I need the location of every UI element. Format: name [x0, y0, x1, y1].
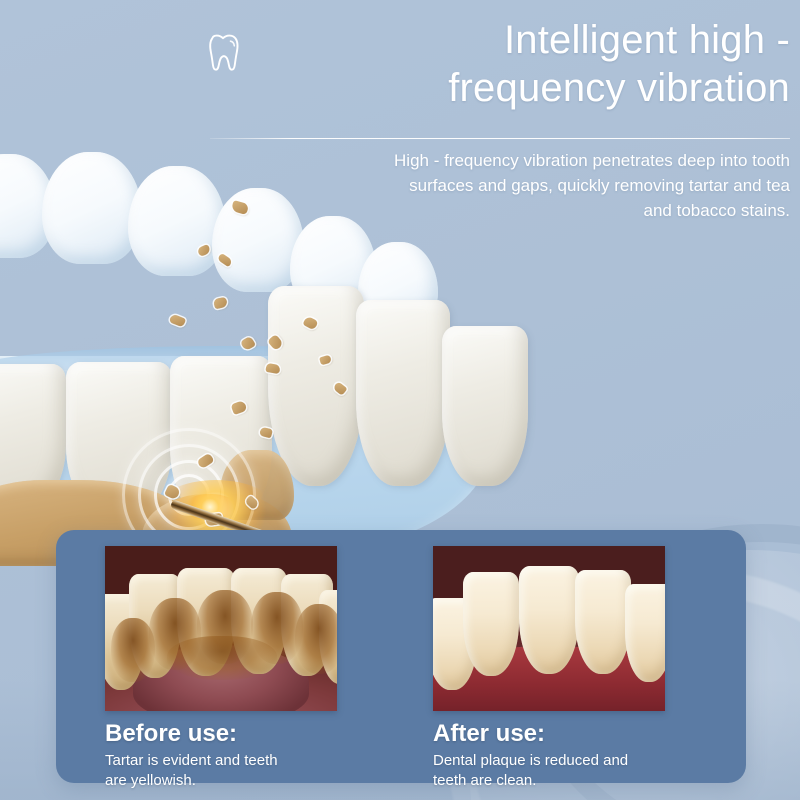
- after-use-body-line-1: Dental plaque is reduced and: [433, 752, 628, 769]
- after-tooth: [463, 572, 519, 676]
- lower-tooth: [442, 326, 528, 486]
- before-use-body-line-1: Tartar is evident and teeth: [105, 752, 278, 769]
- upper-molar: [42, 152, 142, 264]
- page-title-line-1: Intelligent high -: [504, 18, 790, 62]
- tartar-chip: [213, 297, 228, 309]
- header-divider: [210, 138, 790, 139]
- tartar-stain: [295, 604, 337, 674]
- before-use-body-line-2: are yellowish.: [105, 772, 196, 789]
- lower-tooth: [356, 300, 450, 486]
- page-subtitle-line-3: and tobacco stains.: [644, 201, 790, 220]
- before-use-photo: [105, 546, 337, 711]
- after-tooth: [625, 584, 665, 682]
- before-use-caption: Before use: Tartar is evident and teeth …: [105, 720, 278, 791]
- after-tooth: [519, 566, 579, 674]
- upper-molar-arch: [0, 150, 420, 290]
- tartar-stain: [167, 636, 277, 680]
- before-after-card: Before use: Tartar is evident and teeth …: [56, 530, 746, 783]
- lower-tooth: [268, 286, 364, 486]
- after-use-title: After use:: [433, 720, 628, 748]
- product-infographic: Intelligent high - frequency vibration H…: [0, 0, 800, 800]
- dental-scaler-illustration: [0, 150, 530, 550]
- page-title: Intelligent high - frequency vibration: [330, 16, 790, 112]
- tooth-icon: [205, 33, 241, 73]
- tartar-chip: [169, 314, 186, 328]
- after-use-body-line-2: teeth are clean.: [433, 772, 536, 789]
- before-use-title: Before use:: [105, 720, 278, 748]
- after-use-body: Dental plaque is reduced and teeth are c…: [433, 751, 628, 791]
- upper-molar: [128, 166, 226, 276]
- after-tooth: [575, 570, 631, 674]
- after-use-caption: After use: Dental plaque is reduced and …: [433, 720, 628, 791]
- before-use-body: Tartar is evident and teeth are yellowis…: [105, 751, 278, 791]
- after-use-photo: [433, 546, 665, 711]
- page-title-line-2: frequency vibration: [448, 66, 790, 110]
